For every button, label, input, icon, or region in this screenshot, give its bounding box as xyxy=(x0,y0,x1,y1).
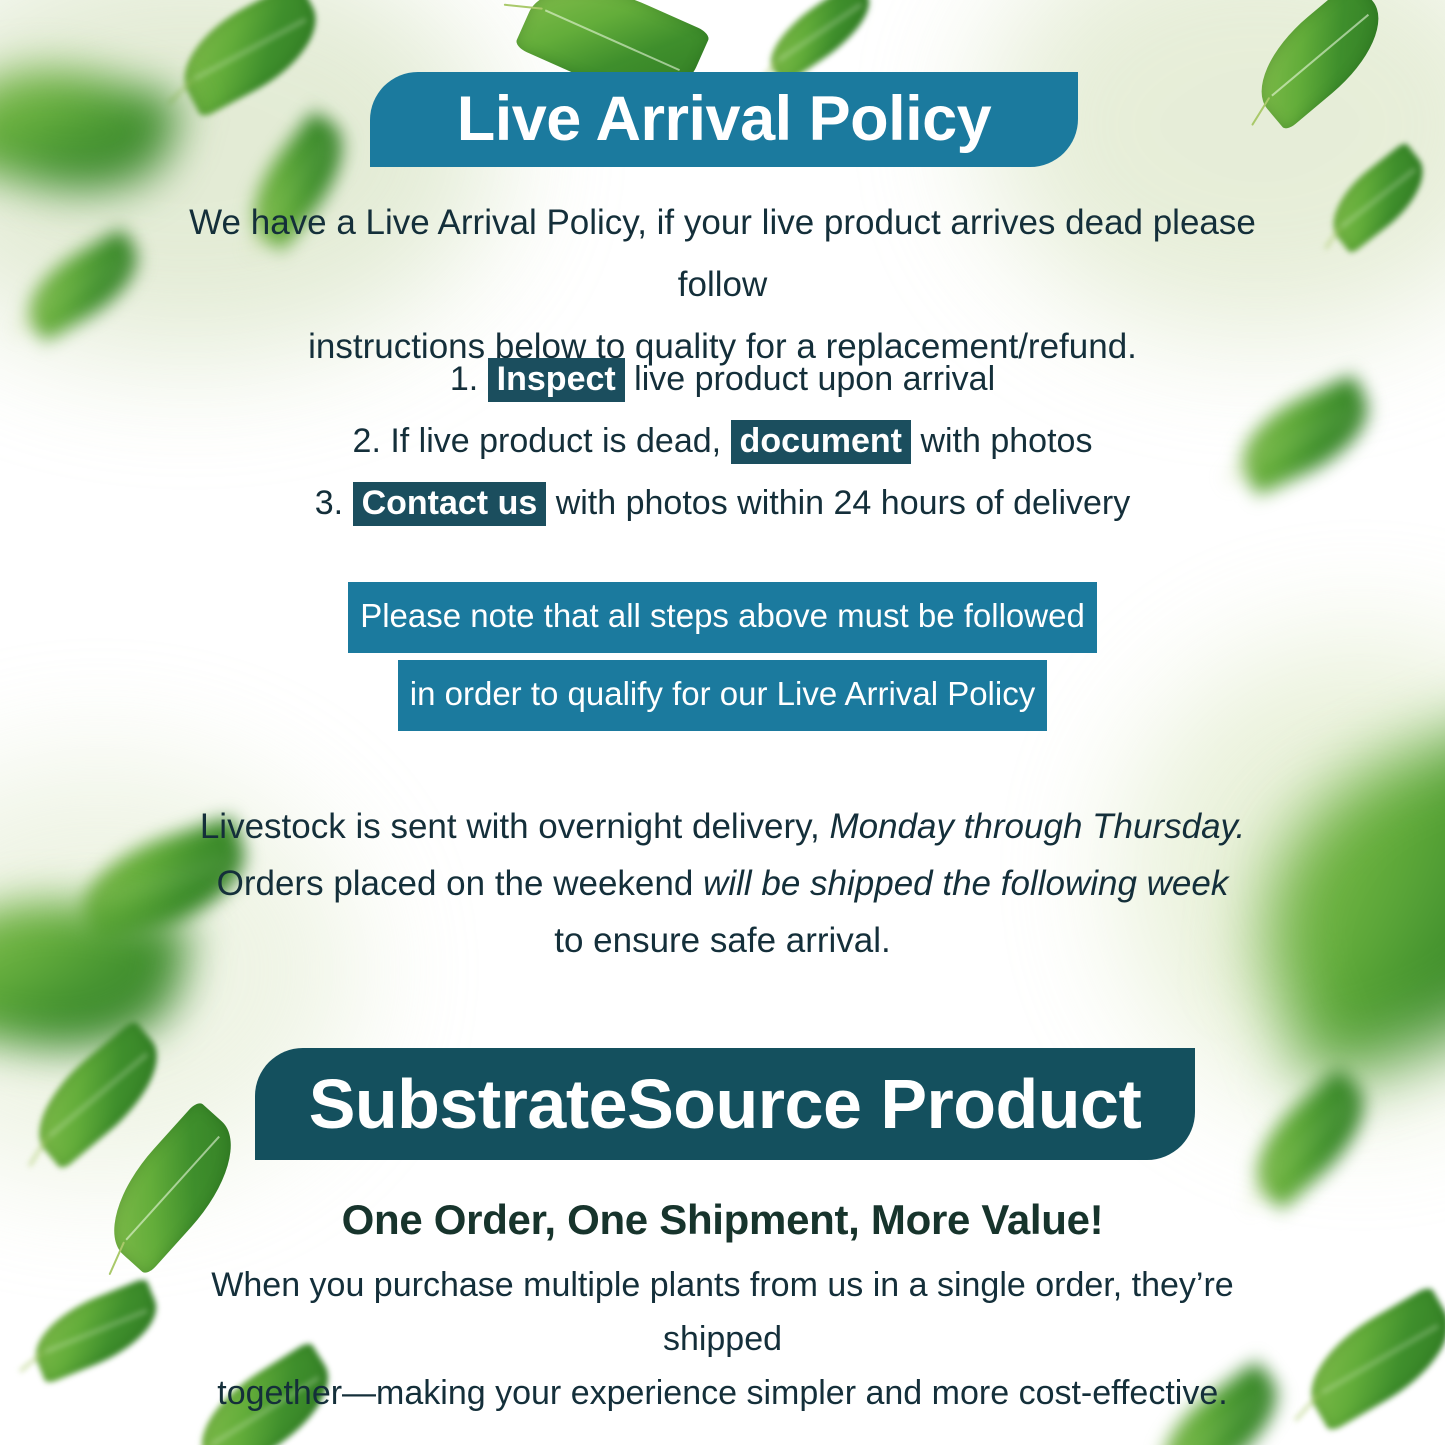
shipping-line-2-plain: Orders placed on the weekend xyxy=(217,864,694,903)
shipping-paragraph: Livestock is sent with overnight deliver… xyxy=(150,798,1295,969)
live-arrival-policy-banner: Live Arrival Policy xyxy=(370,72,1078,167)
step-text-before: If live product is dead, xyxy=(390,422,721,460)
shipping-line-1-plain: Livestock is sent with overnight deliver… xyxy=(200,807,820,846)
shipping-line-2-italic: will be shipped the following week xyxy=(703,864,1228,903)
step-highlight-contact-us: Contact us xyxy=(353,482,547,526)
shipping-line-1-italic: Monday through Thursday. xyxy=(829,807,1245,846)
intro-line-1: We have a Live Arrival Policy, if your l… xyxy=(189,203,1256,304)
step-item-1: 1. Inspect live product upon arrival xyxy=(150,348,1295,410)
step-number: 3. xyxy=(315,484,343,522)
note-line-2: in order to qualify for our Live Arrival… xyxy=(398,660,1047,731)
leaf-icon xyxy=(23,1278,169,1385)
step-item-2: 2. If live product is dead, document wit… xyxy=(150,410,1295,472)
step-highlight-document: document xyxy=(731,420,911,464)
step-number: 1. xyxy=(450,360,478,398)
leaf-icon xyxy=(1291,1285,1445,1433)
closing-line-2: together—making your experience simpler … xyxy=(217,1374,1227,1412)
step-highlight-inspect: Inspect xyxy=(488,358,625,402)
step-number: 2. xyxy=(353,422,381,460)
step-text: with photos within 24 hours of delivery xyxy=(556,484,1131,522)
shipping-line-3: to ensure safe arrival. xyxy=(554,921,891,960)
step-text: with photos xyxy=(920,422,1092,460)
step-text: live product upon arrival xyxy=(634,360,995,398)
substrate-source-banner: SubstrateSource Product xyxy=(255,1048,1195,1160)
steps-list: 1. Inspect live product upon arrival 2. … xyxy=(150,348,1295,534)
closing-paragraph: When you purchase multiple plants from u… xyxy=(150,1258,1295,1420)
closing-line-1: When you purchase multiple plants from u… xyxy=(211,1266,1233,1358)
value-tagline: One Order, One Shipment, More Value! xyxy=(150,1196,1295,1244)
note-line-1: Please note that all steps above must be… xyxy=(348,582,1097,653)
policy-note: Please note that all steps above must be… xyxy=(150,582,1295,738)
step-item-3: 3. Contact us with photos within 24 hour… xyxy=(150,472,1295,534)
